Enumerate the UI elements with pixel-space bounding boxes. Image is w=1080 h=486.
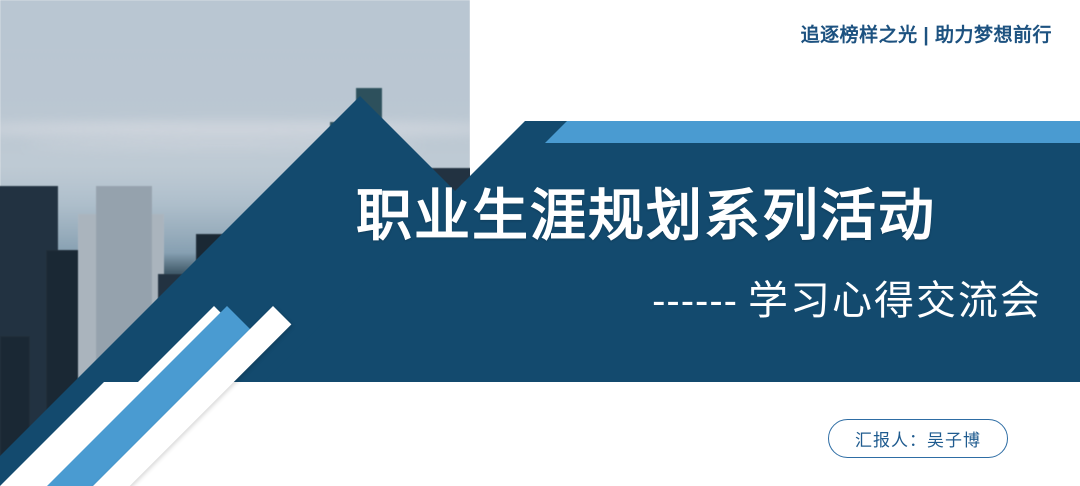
subtitle-dash: ------ xyxy=(652,279,738,323)
page-title: 职业生涯规划系列活动 xyxy=(356,171,936,252)
building xyxy=(250,290,296,486)
building xyxy=(96,186,152,486)
presenter-badge: 汇报人：吴子博 xyxy=(828,419,1008,458)
building-spire xyxy=(356,88,382,486)
header-tagline: 追逐榜样之光 | 助力梦想前行 xyxy=(801,20,1052,47)
page-subtitle: ------学习心得交流会 xyxy=(652,268,1042,326)
building xyxy=(206,366,250,486)
building xyxy=(0,336,30,486)
presentation-title-slide: 追逐榜样之光 | 助力梦想前行 职业生涯规划系列活动 ------学习心得交流会… xyxy=(0,0,1080,486)
subtitle-text: 学习心得交流会 xyxy=(748,279,1042,323)
cloud-band xyxy=(0,122,470,136)
building xyxy=(296,186,334,486)
